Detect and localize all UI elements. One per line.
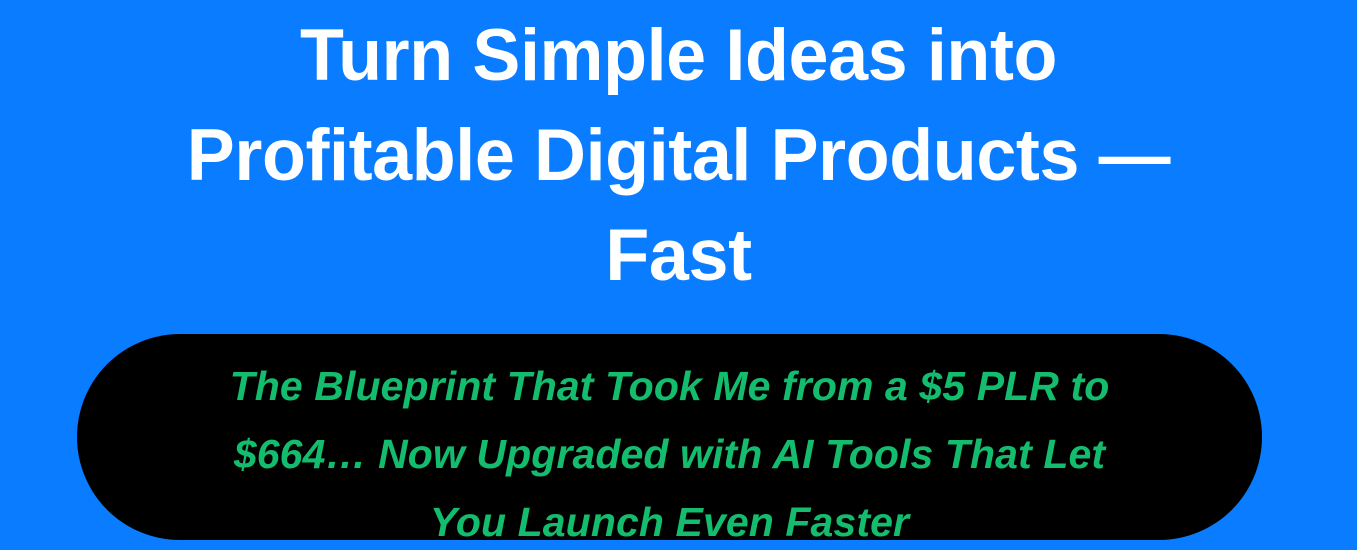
subheadline-pill: The Blueprint That Took Me from a $5 PLR… [77,334,1262,540]
hero-banner: Turn Simple Ideas into Profitable Digita… [0,0,1357,550]
headline-line-1: Turn Simple Ideas into [10,6,1347,106]
page-title: Turn Simple Ideas into Profitable Digita… [0,0,1357,306]
subheadline-line-1: The Blueprint That Took Me from a $5 PLR… [155,352,1184,420]
headline-line-3: Fast [10,206,1347,306]
subheadline-line-2: $664… Now Upgraded with AI Tools That Le… [155,420,1184,488]
subheadline-line-3: You Launch Even Faster [155,488,1184,540]
headline-line-2: Profitable Digital Products — [10,106,1347,206]
